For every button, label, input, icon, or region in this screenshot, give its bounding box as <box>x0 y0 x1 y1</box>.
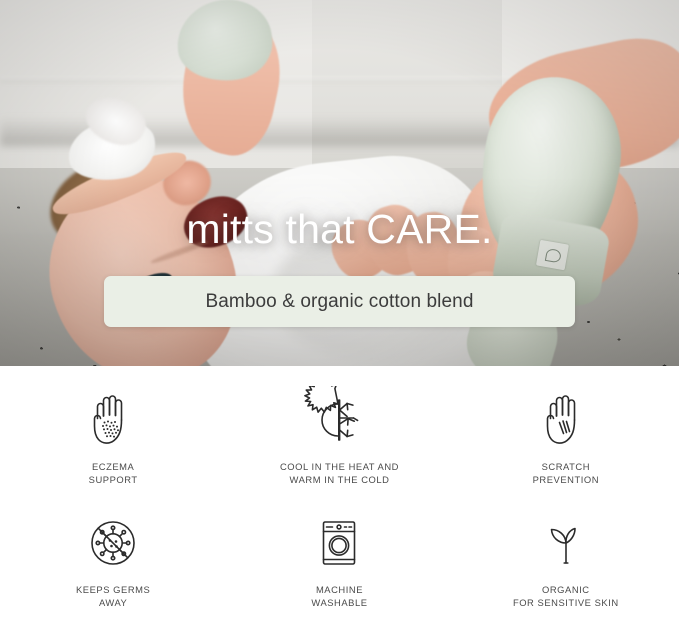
feature-item-temperature-regulating: COOL IN THE HEAT AND WARM IN THE COLD <box>226 382 452 505</box>
feature-item-scratch-prevention: SCRATCH PREVENTION <box>453 382 679 505</box>
washing-machine-icon <box>303 509 375 577</box>
feature-label: ORGANIC FOR SENSITIVE SKIN <box>513 584 619 609</box>
product-feature-banner: mitts that CARE. Bamboo & organic cotton… <box>0 0 679 632</box>
feature-item-keeps-germs-away: KEEPS GERMS AWAY <box>0 505 226 628</box>
feature-label: ECZEMA SUPPORT <box>89 461 138 486</box>
hand-scratch-marks-icon <box>530 386 602 454</box>
feature-label: KEEPS GERMS AWAY <box>76 584 150 609</box>
sun-snowflake-icon <box>303 386 375 454</box>
feature-item-machine-washable: MACHINE WASHABLE <box>226 505 452 628</box>
feature-label: MACHINE WASHABLE <box>311 584 367 609</box>
feature-grid-section: ECZEMA SUPPORT <box>0 366 679 632</box>
feature-item-organic-sensitive-skin: ORGANIC FOR SENSITIVE SKIN <box>453 505 679 628</box>
photo-bottom-scrim <box>0 176 679 366</box>
hero-subbanner-text: Bamboo & organic cotton blend <box>205 291 473 313</box>
feature-label: SCRATCH PREVENTION <box>533 461 599 486</box>
feature-item-eczema-support: ECZEMA SUPPORT <box>0 382 226 505</box>
sprout-leaf-icon <box>530 509 602 577</box>
hero-subbanner: Bamboo & organic cotton blend <box>104 276 575 327</box>
feature-label: COOL IN THE HEAT AND WARM IN THE COLD <box>280 461 399 486</box>
hand-eczema-dots-icon <box>77 386 149 454</box>
feature-grid: ECZEMA SUPPORT <box>0 382 679 628</box>
hero-headline: mitts that CARE. <box>0 209 679 250</box>
hero-section: mitts that CARE. Bamboo & organic cotton… <box>0 0 679 366</box>
germ-no-entry-icon <box>77 509 149 577</box>
